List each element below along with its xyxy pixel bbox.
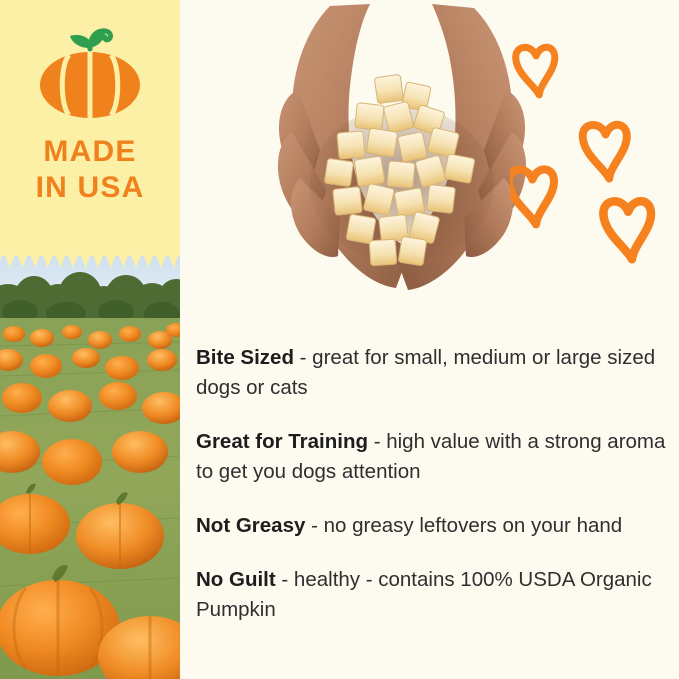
made-in-usa-label: MADE IN USA [0, 134, 180, 206]
feature-label: Not Greasy [196, 514, 305, 537]
feature-item: Great for Training - high value with a s… [196, 427, 666, 487]
feature-label: Bite Sized [196, 346, 294, 369]
feature-item: No Guilt - healthy - contains 100% USDA … [196, 565, 666, 625]
pumpkin-patch-illustration [0, 256, 180, 679]
feature-label: Great for Training [196, 430, 368, 453]
main-column: Bite Sized - great for small, medium or … [180, 0, 679, 679]
feature-list: Bite Sized - great for small, medium or … [196, 322, 666, 649]
product-feature-poster: MADE IN USA [0, 0, 679, 679]
feature-body: - no greasy leftovers on your hand [305, 514, 622, 537]
hearts-decoration [510, 20, 679, 300]
feature-item: Not Greasy - no greasy leftovers on your… [196, 511, 666, 541]
badge-line-1: MADE [43, 135, 136, 168]
heart-icons [510, 20, 679, 300]
badge-line-2: IN USA [0, 170, 180, 206]
left-column: MADE IN USA [0, 0, 180, 679]
pumpkin-icon [34, 28, 146, 120]
pumpkin-patch-photo [0, 256, 180, 679]
feature-label: No Guilt [196, 568, 276, 591]
feature-item: Bite Sized - great for small, medium or … [196, 343, 666, 403]
